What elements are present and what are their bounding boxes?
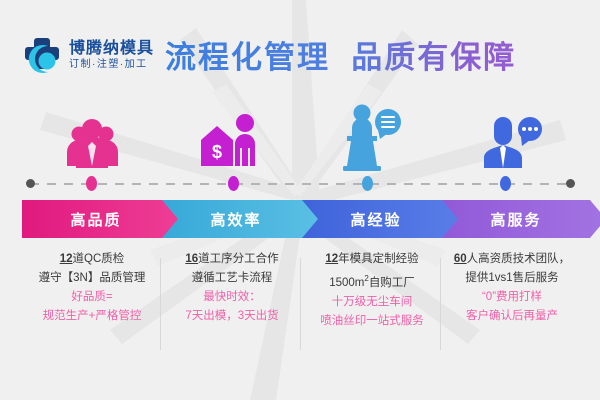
column-divider [300, 258, 301, 350]
quality-line2: 遵守【3N】品质管理 [22, 269, 162, 288]
efficiency-column: 16道工序分工合作 遵循工艺卡流程 最快时效： 7天出模，3天出货 [162, 250, 302, 326]
service-line2: 提供1vs1售后服务 [442, 269, 582, 288]
service-line1-number: 60 [454, 253, 467, 265]
page-headline: 流程化管理 品质有保障 [165, 36, 585, 80]
service-line3: “0”费用打样 [442, 288, 582, 307]
banner-tab-efficiency[interactable]: 高效率 [162, 200, 326, 238]
header: 博腾纳模具 订制·注塑·加工 流程化管理 品质有保障 [0, 0, 600, 96]
efficiency-line2: 遵循工艺卡流程 [162, 269, 302, 288]
timeline-start-dot [26, 179, 35, 188]
column-divider [160, 258, 161, 350]
quality-line1-number: 12 [60, 253, 73, 265]
detail-columns: 12道QC质检 遵守【3N】品质管理 好品质= 规范生产+严格管控 16道工序分… [0, 250, 600, 360]
speaker-podium-with-message-icon [302, 98, 442, 174]
efficiency-line3: 最快时效： [162, 288, 302, 307]
quality-column: 12道QC质检 遵守【3N】品质管理 好品质= 规范生产+严格管控 [22, 250, 162, 326]
timeline-end-dot [566, 179, 575, 188]
quality-line4: 规范生产+严格管控 [22, 307, 162, 326]
column-divider [440, 258, 441, 350]
banner-tab-efficiency-label: 高效率 [210, 209, 277, 230]
infographic-canvas: 博腾纳模具 订制·注塑·加工 流程化管理 品质有保障 [0, 0, 600, 400]
person-with-money-house-icon: $ [162, 98, 302, 174]
experience-line1-rest: 年模具定制经验 [338, 253, 419, 265]
service-column: 60人高资质技术团队， 提供1vs1售后服务 “0”费用打样 客户确认后再量产 [442, 250, 582, 326]
chevron-banner: 高品质 高效率 高经验 高服务 [22, 200, 578, 238]
person-with-chat-bubble-icon [442, 98, 582, 174]
banner-tab-experience-label: 高经验 [350, 209, 417, 230]
banner-tab-quality-label: 高品质 [70, 209, 137, 230]
group-of-people-icon [22, 98, 162, 174]
quality-line3: 好品质= [22, 288, 162, 307]
banner-tab-service[interactable]: 高服务 [442, 200, 600, 238]
efficiency-line1-rest: 道工序分工合作 [198, 253, 279, 265]
timeline-dashed-line [30, 183, 570, 185]
timeline-dot-2 [228, 176, 239, 191]
banner-tab-experience[interactable]: 高经验 [302, 200, 466, 238]
logo-subtitle: 订制·注塑·加工 [69, 60, 154, 70]
experience-line3: 十万级无尘车间 [302, 293, 442, 312]
timeline-dot-4 [500, 176, 511, 191]
experience-line4: 喷油丝印一站式服务 [302, 312, 442, 331]
timeline-dot-3 [362, 176, 373, 191]
quality-line1-rest: 道QC质检 [73, 253, 125, 265]
icon-row: $ [0, 98, 600, 174]
experience-line2-prefix: 1500m [329, 277, 364, 289]
service-line1-rest: 人高资质技术团队， [467, 253, 571, 265]
timeline-dot-1 [86, 176, 97, 191]
efficiency-line1-number: 16 [185, 253, 198, 265]
banner-tab-service-label: 高服务 [490, 209, 557, 230]
logo-company-name: 博腾纳模具 [69, 41, 154, 57]
efficiency-line4: 7天出模，3天出货 [162, 307, 302, 326]
brand-logo[interactable]: 博腾纳模具 订制·注塑·加工 [22, 34, 154, 76]
botengna-cross-swoosh-logo-icon [22, 34, 62, 76]
experience-column: 12年模具定制经验 1500m2自购工厂 十万级无尘车间 喷油丝印一站式服务 [302, 250, 442, 331]
experience-line1-number: 12 [325, 253, 338, 265]
service-line4: 客户确认后再量产 [442, 307, 582, 326]
experience-line2-suffix: 自购工厂 [369, 277, 415, 289]
svg-text:$: $ [212, 142, 222, 162]
timeline [0, 174, 600, 194]
banner-tab-quality[interactable]: 高品质 [22, 200, 186, 238]
